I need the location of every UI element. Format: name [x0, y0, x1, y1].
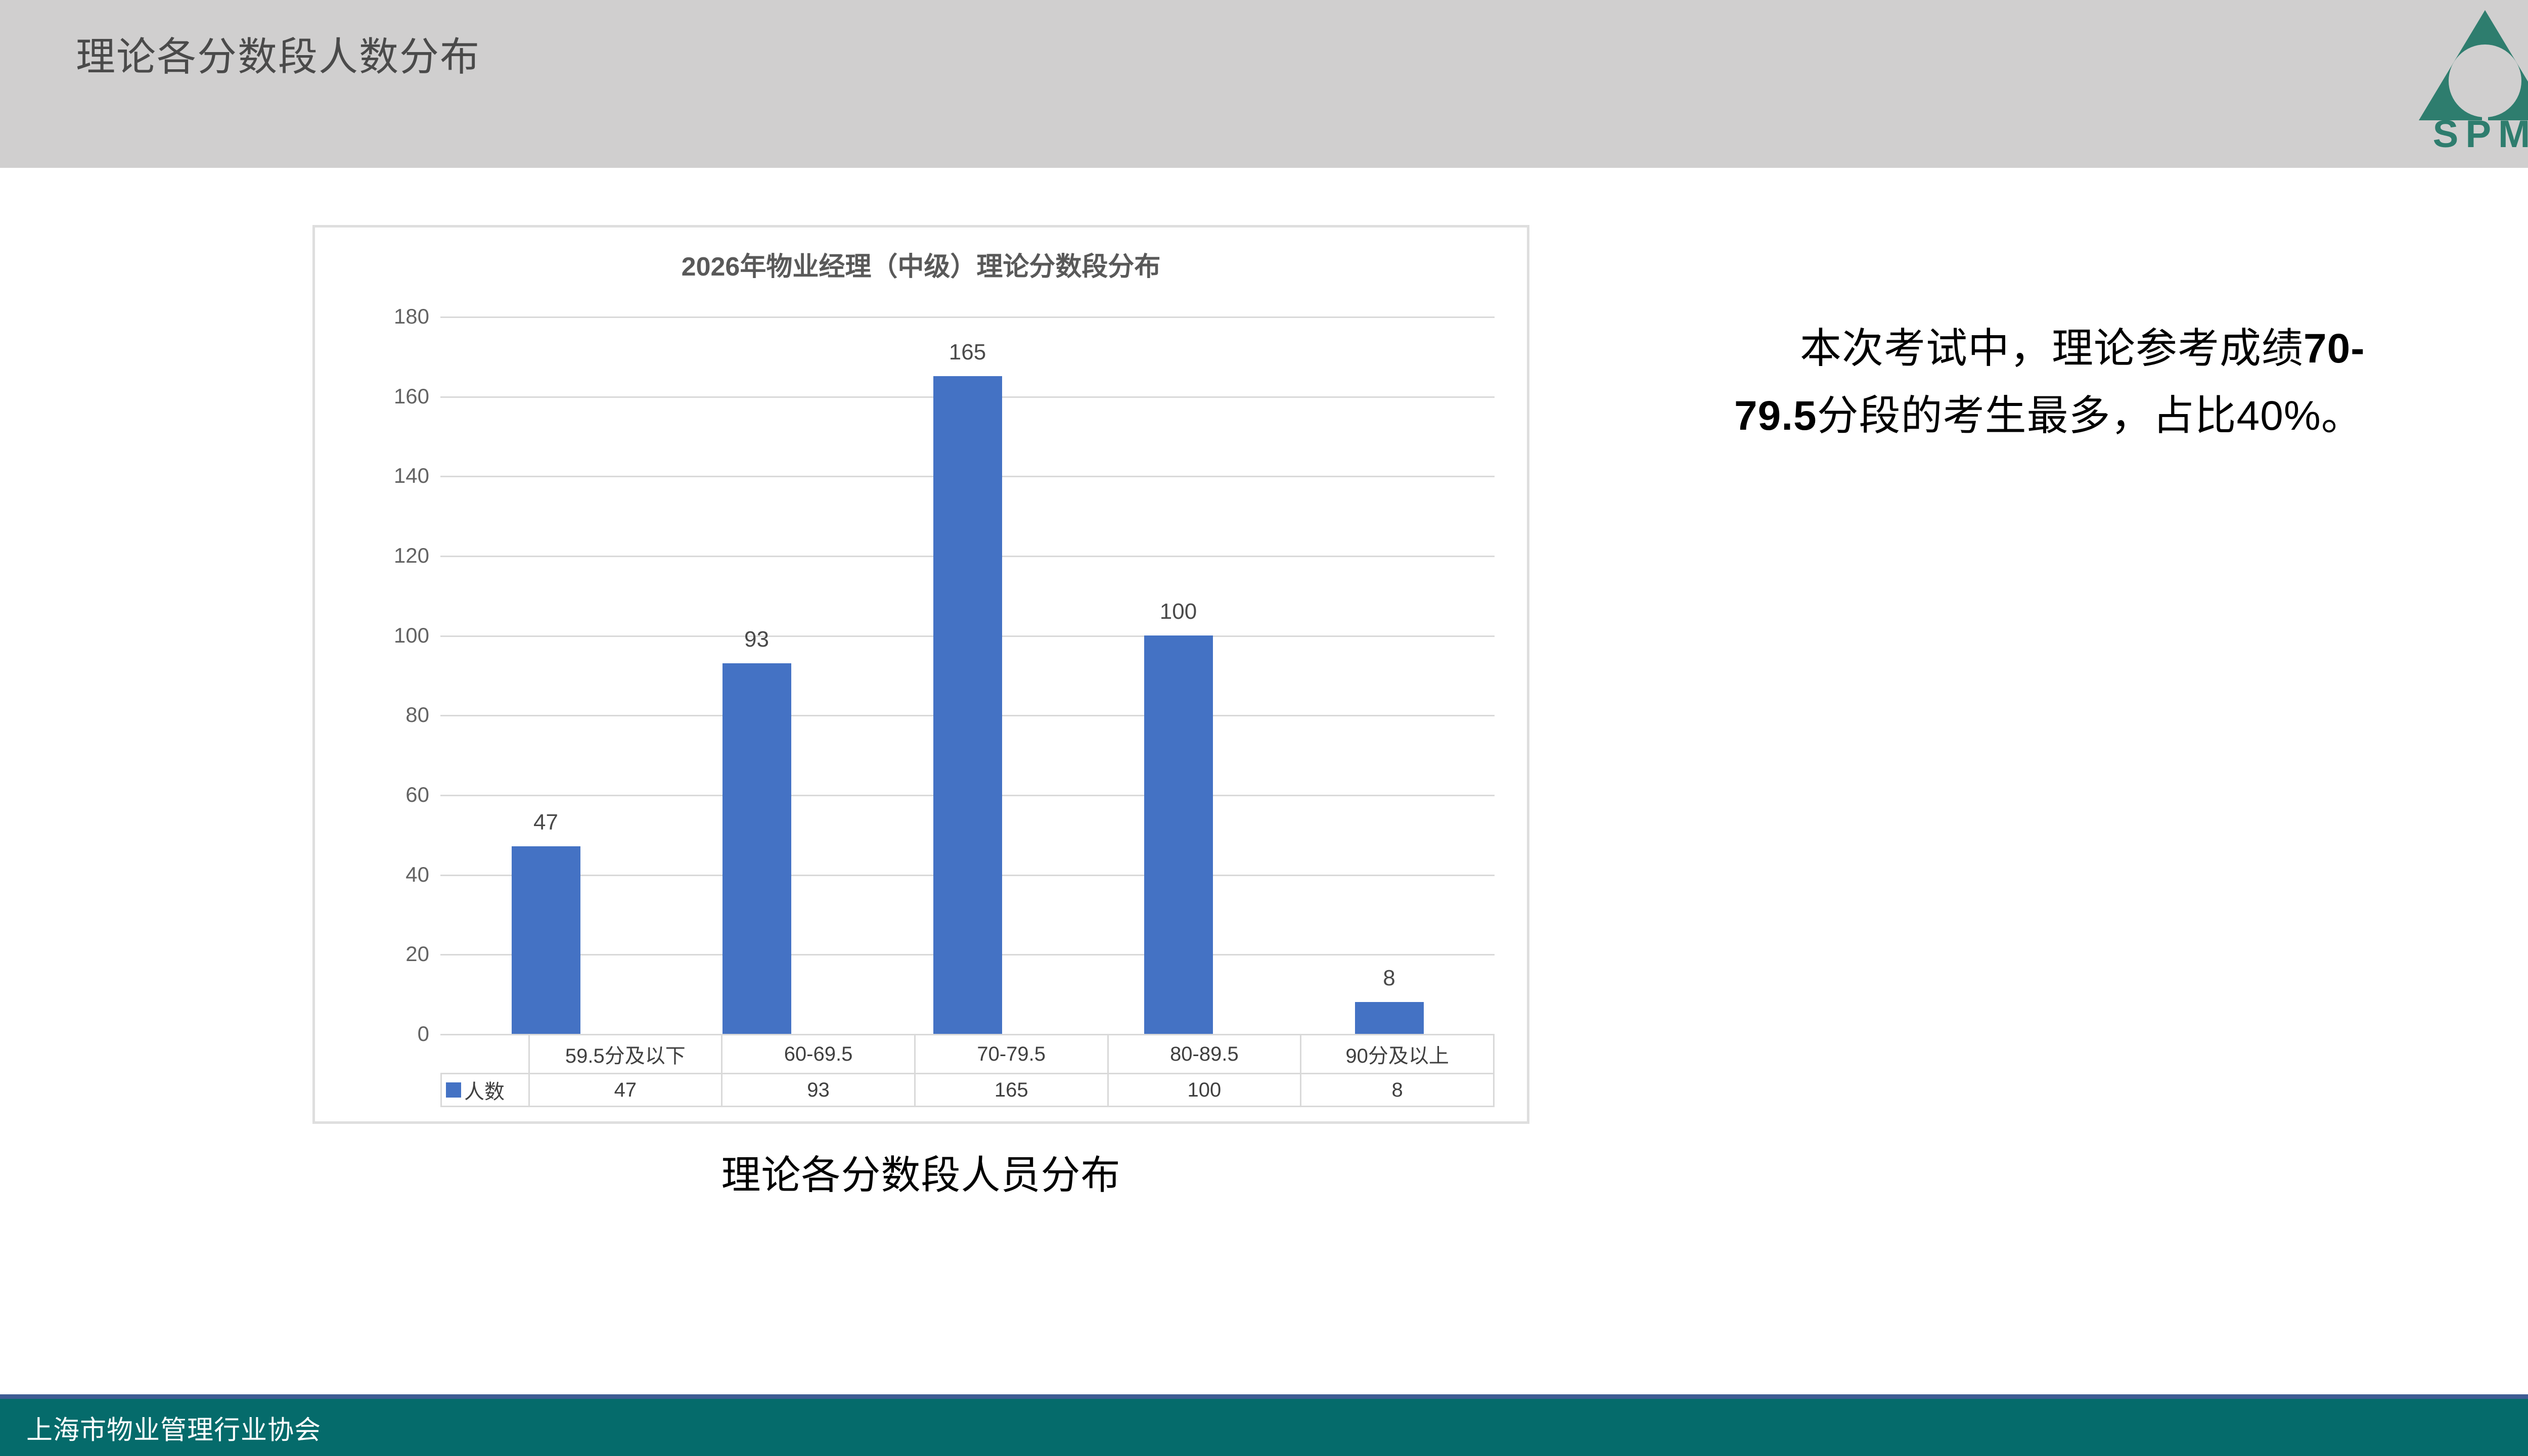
logo-wordmark: SPM [2422, 115, 2528, 154]
category-header-cell: 59.5分及以下 [529, 1035, 722, 1074]
chart-data-table: 59.5分及以下60-69.570-79.580-89.590分及以上人数479… [440, 1034, 1495, 1107]
value-cell: 100 [1108, 1074, 1301, 1107]
y-axis-tick-label: 120 [394, 543, 429, 568]
category-header-cell: 70-79.5 [915, 1035, 1108, 1074]
slide-footer-band: 上海市物业管理行业协会 2 [0, 1394, 2528, 1456]
value-cell: 165 [915, 1074, 1108, 1107]
category-header-cell: 80-89.5 [1108, 1035, 1301, 1074]
legend-label: 人数 [464, 1075, 505, 1105]
category-header-cell: 90分及以上 [1301, 1035, 1494, 1074]
chart-data-label: 100 [1160, 599, 1197, 624]
chart-data-label: 93 [744, 627, 769, 652]
chart-bar[interactable] [1355, 1002, 1424, 1034]
y-axis-tick-label: 80 [405, 703, 429, 727]
table-spacer-cell [441, 1035, 529, 1074]
chart-caption: 理论各分数段人员分布 [312, 1144, 1529, 1200]
commentary-text: 本次考试中，理论参考成绩70-79.5分段的考生最多，占比40%。 [1734, 315, 2442, 450]
slide-header-band [0, 0, 2528, 168]
y-axis-tick-label: 0 [418, 1022, 429, 1046]
chart-data-label: 165 [949, 340, 986, 365]
y-axis-tick-label: 100 [394, 623, 429, 648]
y-axis-tick-label: 40 [405, 862, 429, 887]
chart-container: 2026年物业经理（中级）理论分数段分布 1801601401201008060… [312, 225, 1529, 1124]
y-axis-tick-label: 160 [394, 384, 429, 408]
chart-data-label: 47 [533, 810, 558, 835]
chart-bar[interactable] [723, 663, 791, 1034]
chart-title: 2026年物业经理（中级）理论分数段分布 [315, 245, 1527, 283]
category-header-cell: 60-69.5 [722, 1035, 915, 1074]
value-cell: 93 [722, 1074, 915, 1107]
commentary-suffix: 分段的考生最多，占比40%。 [1817, 393, 2363, 439]
legend-swatch-icon [446, 1082, 461, 1098]
table-row: 59.5分及以下60-69.570-79.580-89.590分及以上 [441, 1035, 1494, 1074]
chart-bar[interactable] [512, 846, 580, 1034]
spm-triangle-icon [2419, 10, 2528, 120]
table-row: 人数47931651008 [441, 1074, 1494, 1107]
chart-plot-area: 18016014012010080604020047931651008 [440, 316, 1495, 1034]
y-axis-tick-label: 60 [405, 783, 429, 807]
value-cell: 8 [1301, 1074, 1494, 1107]
chart-gridline: 180 [440, 316, 1495, 318]
page-title: 理论各分数段人数分布 [76, 31, 480, 82]
value-cell: 47 [529, 1074, 722, 1107]
footer-organization: 上海市物业管理行业协会 [26, 1408, 321, 1446]
y-axis-tick-label: 180 [394, 304, 429, 329]
chart-bar[interactable] [1144, 635, 1213, 1034]
chart-bar[interactable] [933, 376, 1002, 1034]
y-axis-tick-label: 140 [394, 464, 429, 488]
chart-legend[interactable]: 人数 [441, 1074, 529, 1107]
chart-data-label: 8 [1383, 966, 1395, 991]
logo: SPM ® [2408, 7, 2528, 159]
y-axis-tick-label: 20 [405, 942, 429, 966]
commentary-prefix: 本次考试中，理论参考成绩 [1800, 326, 2304, 372]
